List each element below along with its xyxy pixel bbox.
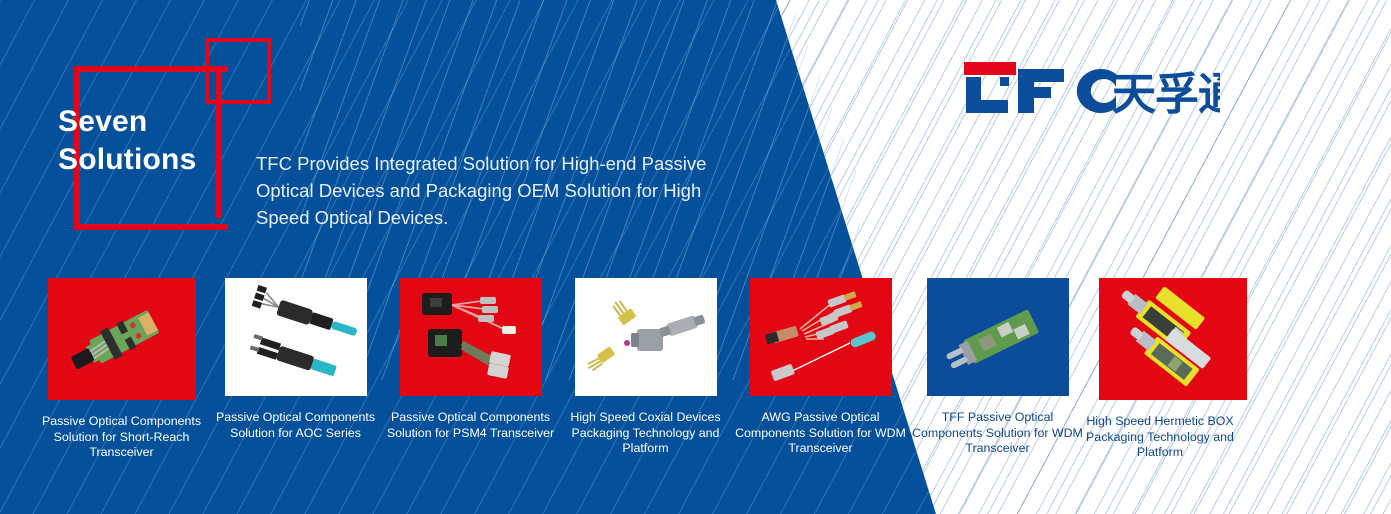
solution-card[interactable]: TFF Passive Optical Components Solution …: [910, 278, 1085, 457]
solution-card-thumbnail: [575, 278, 717, 396]
solution-card[interactable]: Passive Optical Components Solution for …: [34, 278, 209, 461]
solution-card-thumbnail: [1099, 278, 1247, 400]
solution-card-thumbnail: [225, 278, 367, 396]
solution-card[interactable]: High Speed Coxial Devices Packaging Tech…: [558, 278, 733, 457]
solution-card[interactable]: Passive Optical Components Solution for …: [208, 278, 383, 441]
solution-card[interactable]: AWG Passive Optical Components Solution …: [733, 278, 908, 457]
banner-stage: Seven Solutions TFC Provides Integrated …: [0, 0, 1391, 514]
solution-card-caption: Passive Optical Components Solution for …: [208, 410, 383, 441]
solution-card-caption: TFF Passive Optical Components Solution …: [905, 410, 1090, 457]
solution-card-list: Passive Optical Components Solution for …: [0, 0, 1391, 514]
solution-card-thumbnail: [400, 278, 542, 396]
solution-card-caption: High Speed Hermetic BOX Packaging Techno…: [1065, 414, 1255, 461]
solution-card-caption: Passive Optical Components Solution for …: [34, 414, 209, 461]
solution-card-caption: AWG Passive Optical Components Solution …: [733, 410, 908, 457]
solution-card[interactable]: High Speed Hermetic BOX Packaging Techno…: [1085, 278, 1260, 461]
solution-card-caption: Passive Optical Components Solution for …: [383, 410, 558, 441]
solution-card[interactable]: Passive Optical Components Solution for …: [383, 278, 558, 441]
solution-card-thumbnail: [750, 278, 892, 396]
solution-card-thumbnail: [48, 278, 196, 400]
solution-card-caption: High Speed Coxial Devices Packaging Tech…: [558, 410, 733, 457]
solution-card-thumbnail: [927, 278, 1069, 396]
